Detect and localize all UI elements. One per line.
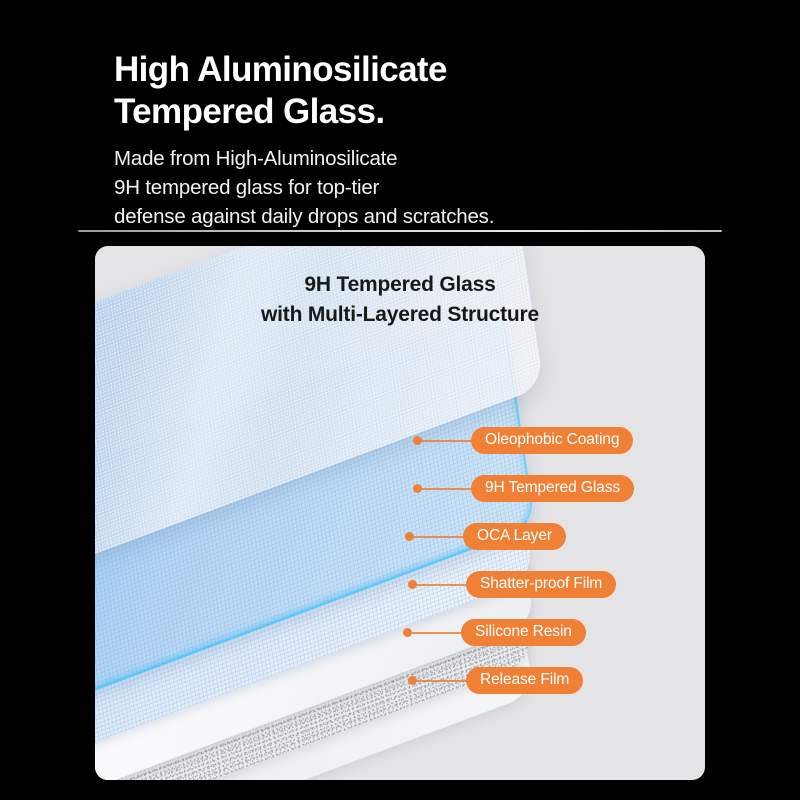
callout-label-shatter-proof-film[interactable]: Shatter-proof Film bbox=[466, 571, 616, 598]
callout-label-tempered-glass[interactable]: 9H Tempered Glass bbox=[471, 475, 634, 502]
callout-dot-icon bbox=[403, 628, 412, 637]
callout-dot-icon bbox=[413, 436, 422, 445]
leader-line bbox=[422, 440, 478, 442]
leader-line bbox=[414, 536, 470, 538]
callout-dot-icon bbox=[408, 580, 417, 589]
callout-label-release-film[interactable]: Release Film bbox=[466, 667, 583, 694]
product-feature-card: High Aluminosilicate Tempered Glass. Mad… bbox=[0, 0, 800, 800]
leader-line bbox=[417, 584, 473, 586]
callout-label-oleophobic-coating[interactable]: Oleophobic Coating bbox=[471, 427, 633, 454]
callout-dot-icon bbox=[413, 484, 422, 493]
leader-line bbox=[417, 680, 473, 682]
leader-line bbox=[422, 488, 478, 490]
callout-dot-icon bbox=[405, 532, 414, 541]
callout-label-group: Oleophobic Coating 9H Tempered Glass OCA… bbox=[0, 0, 800, 800]
callout-dot-icon bbox=[408, 676, 417, 685]
callout-label-oca-layer[interactable]: OCA Layer bbox=[463, 523, 566, 550]
leader-line bbox=[412, 632, 468, 634]
callout-label-silicone-resin[interactable]: Silicone Resin bbox=[461, 619, 586, 646]
